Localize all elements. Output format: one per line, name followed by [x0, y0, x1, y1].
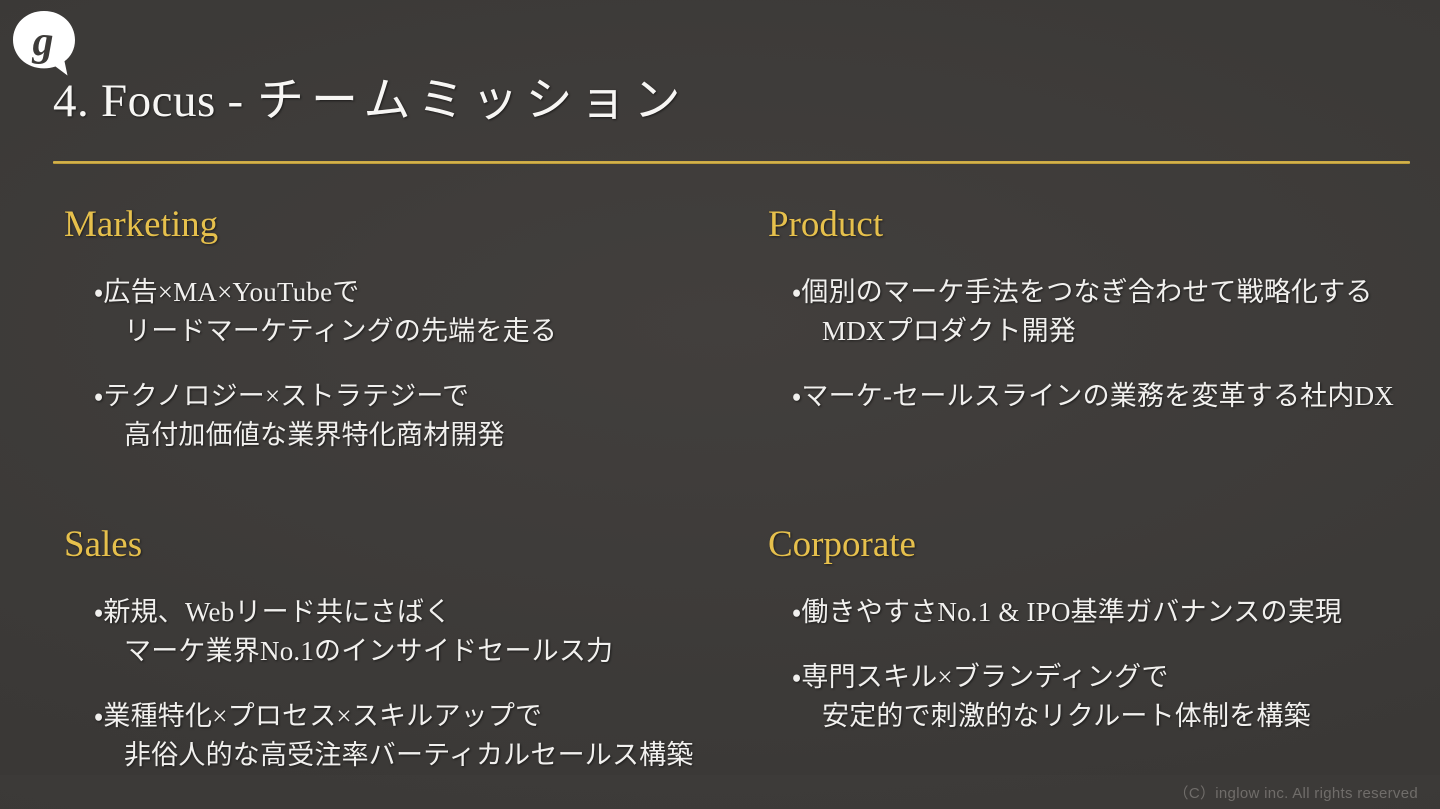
list-item: ・働きやすさNo.1 & IPO基準ガバナンスの実現: [792, 593, 1440, 632]
bullet-marker: ・: [94, 701, 103, 731]
list-item: ・新規、Webリード共にさばく マーケ業界No.1のインサイドセールス力: [94, 593, 716, 671]
list-item-text: 新規、Webリード共にさばく マーケ業界No.1のインサイドセールス力: [103, 597, 613, 666]
bullet-marker: ・: [94, 381, 103, 411]
section-heading-product: Product: [768, 206, 1440, 245]
list-item-text: 広告×MA×YouTubeで リードマーケティングの先端を走る: [103, 277, 557, 346]
slide-canvas: g 4. Focus - チームミッション Marketing ・広告×MA×Y…: [0, 0, 1440, 809]
title-number: 4.: [53, 75, 89, 127]
list-item-text: テクノロジー×ストラテジーで 高付加価値な業界特化商材開発: [103, 381, 504, 450]
bullet-list-corporate: ・働きやすさNo.1 & IPO基準ガバナンスの実現 ・専門スキル×ブランディン…: [768, 593, 1440, 736]
section-sales: Sales ・新規、Webリード共にさばく マーケ業界No.1のインサイドセール…: [64, 526, 716, 775]
bullet-marker: ・: [94, 277, 103, 307]
title-japanese: チームミッション: [257, 75, 688, 127]
section-product: Product ・個別のマーケ手法をつなぎ合わせて戦略化する MDXプロダクト開…: [716, 206, 1440, 526]
list-item-text: マーケ-セールスラインの業務を変革する社内DX: [801, 381, 1394, 411]
svg-text:g: g: [32, 19, 54, 65]
bullet-list-sales: ・新規、Webリード共にさばく マーケ業界No.1のインサイドセールス力 ・業種…: [64, 593, 716, 776]
list-item: ・個別のマーケ手法をつなぎ合わせて戦略化する MDXプロダクト開発: [792, 273, 1440, 351]
title-separator: -: [228, 75, 246, 127]
section-heading-corporate: Corporate: [768, 526, 1440, 565]
list-item-text: 働きやすさNo.1 & IPO基準ガバナンスの実現: [801, 597, 1342, 627]
bullet-marker: ・: [792, 277, 801, 307]
mission-grid: Marketing ・広告×MA×YouTubeで リードマーケティングの先端を…: [0, 206, 1440, 775]
bullet-marker: ・: [792, 662, 801, 692]
bullet-marker: ・: [94, 597, 103, 627]
title-english: Focus: [101, 75, 216, 127]
list-item: ・業種特化×プロセス×スキルアップで 非俗人的な高受注率バーティカルセールス構築: [94, 697, 716, 775]
list-item: ・専門スキル×ブランディングで 安定的で刺激的なリクルート体制を構築: [792, 658, 1440, 736]
slide-title-area: 4. Focus - チームミッション: [53, 78, 1393, 125]
bullet-marker: ・: [792, 381, 801, 411]
page-title: 4. Focus - チームミッション: [53, 78, 1393, 125]
list-item-text: 専門スキル×ブランディングで 安定的で刺激的なリクルート体制を構築: [801, 662, 1310, 731]
list-item: ・マーケ-セールスラインの業務を変革する社内DX: [792, 377, 1440, 416]
bullet-list-product: ・個別のマーケ手法をつなぎ合わせて戦略化する MDXプロダクト開発 ・マーケ-セ…: [768, 273, 1440, 416]
bullet-marker: ・: [792, 597, 801, 627]
list-item-text: 個別のマーケ手法をつなぎ合わせて戦略化する MDXプロダクト開発: [801, 277, 1372, 346]
list-item-text: 業種特化×プロセス×スキルアップで 非俗人的な高受注率バーティカルセールス構築: [103, 701, 693, 770]
section-heading-sales: Sales: [64, 526, 716, 565]
section-corporate: Corporate ・働きやすさNo.1 & IPO基準ガバナンスの実現 ・専門…: [716, 526, 1440, 775]
title-divider: [53, 161, 1410, 164]
list-item: ・テクノロジー×ストラテジーで 高付加価値な業界特化商材開発: [94, 377, 716, 455]
section-marketing: Marketing ・広告×MA×YouTubeで リードマーケティングの先端を…: [64, 206, 716, 526]
inglow-logo-icon: g: [5, 5, 83, 83]
bullet-list-marketing: ・広告×MA×YouTubeで リードマーケティングの先端を走る ・テクノロジー…: [64, 273, 716, 456]
copyright-footer: （C）inglow inc. All rights reserved: [1174, 782, 1418, 803]
list-item: ・広告×MA×YouTubeで リードマーケティングの先端を走る: [94, 273, 716, 351]
section-heading-marketing: Marketing: [64, 206, 716, 245]
